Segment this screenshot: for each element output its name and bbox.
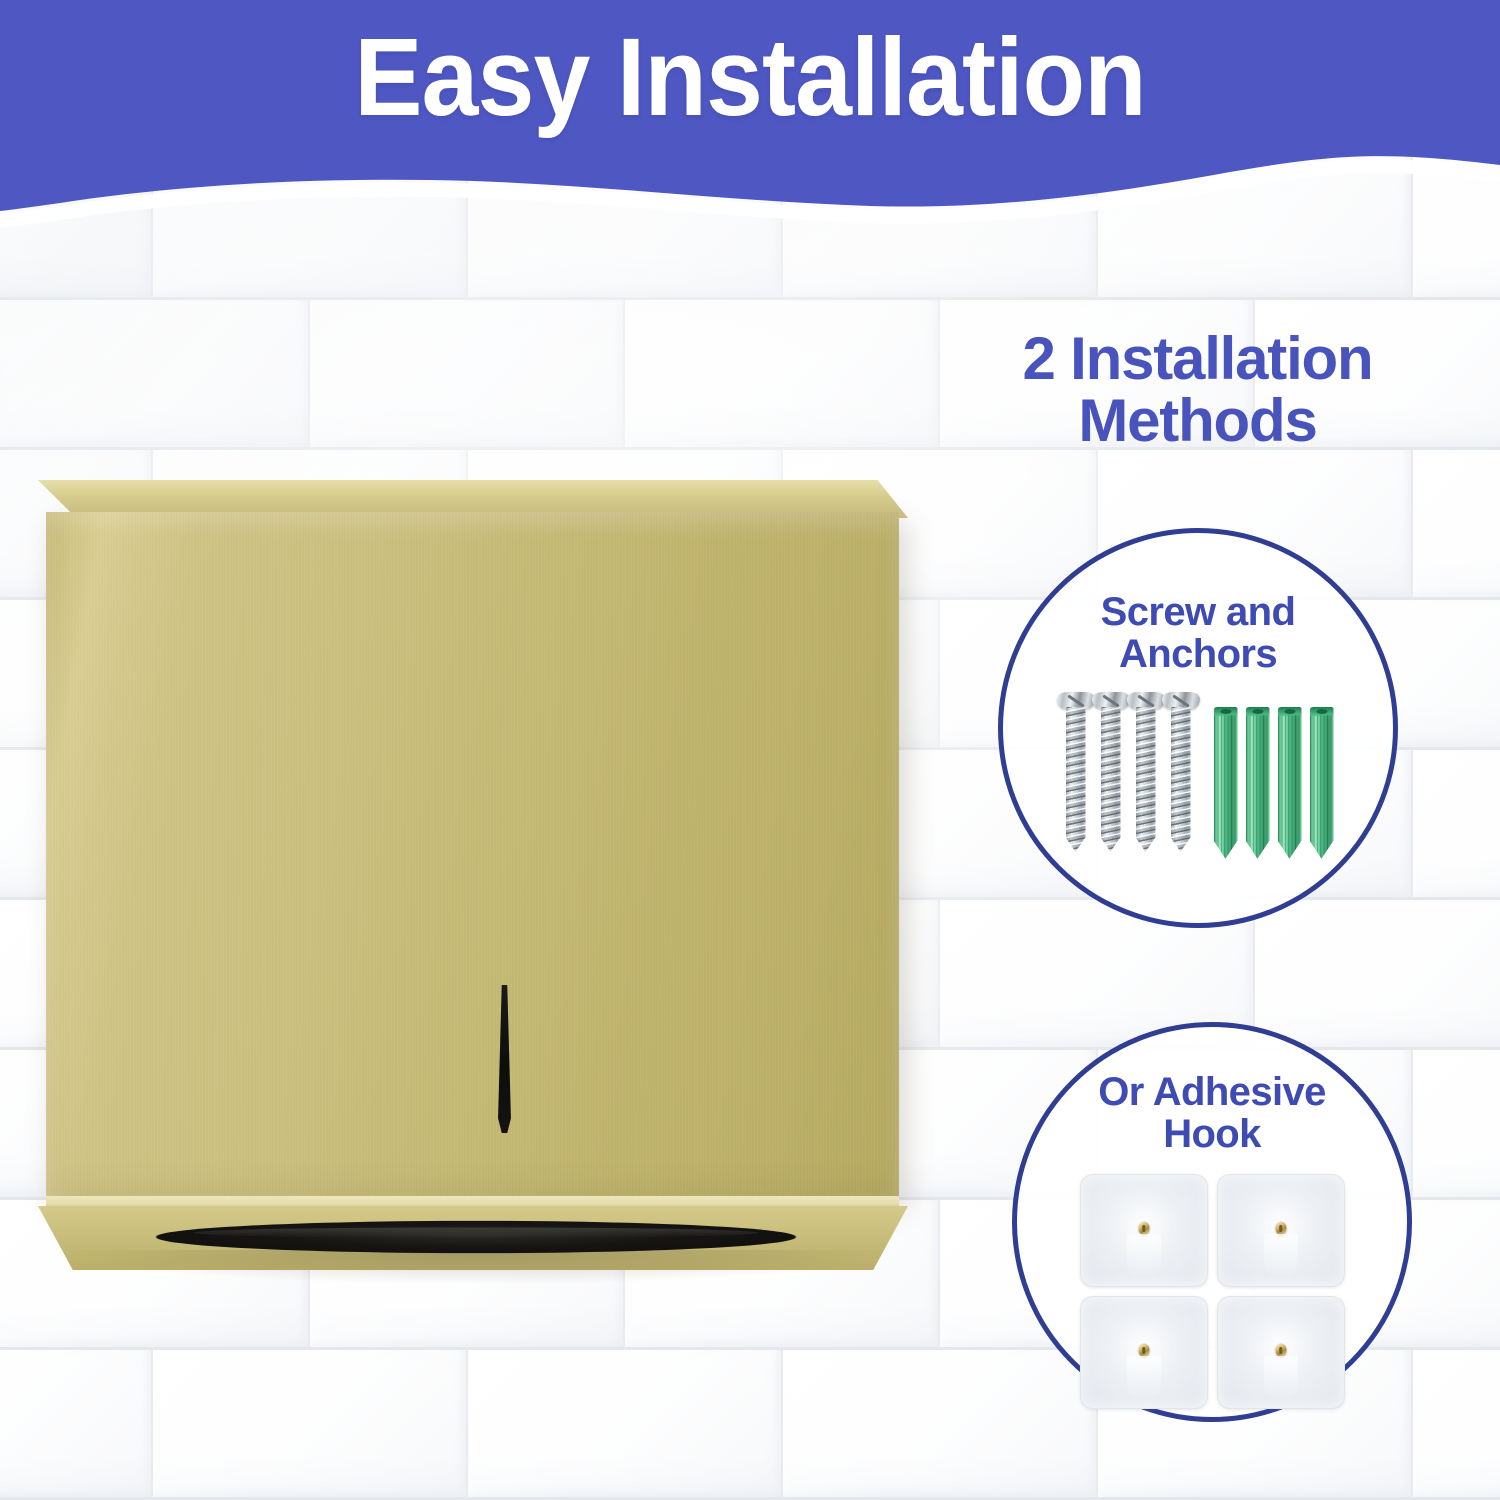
badge-adhesive-label: Or Adhesive Hook	[1047, 1071, 1377, 1156]
badge-screw-label-line2: Anchors	[1119, 632, 1277, 676]
adhesive-pad-icon	[1217, 1296, 1345, 1409]
installation-methods-heading: 2 Installation Methods	[945, 328, 1450, 453]
screw-icon	[1168, 692, 1194, 852]
badge-adhesive-hook[interactable]: Or Adhesive Hook	[1012, 1022, 1412, 1422]
wall-anchor-icon	[1214, 707, 1238, 859]
pad-stud-icon	[1275, 1222, 1286, 1235]
pad-stud-icon	[1138, 1344, 1149, 1357]
adhesive-pad-icon	[1080, 1296, 1208, 1409]
anchor-group	[1214, 707, 1334, 859]
page-title: Easy Installation	[53, 14, 1448, 142]
dispenser-front-panel	[46, 512, 899, 1200]
dispenser-shadow	[68, 1250, 888, 1284]
screw-icon	[1063, 692, 1089, 852]
adhesive-pad-group	[1080, 1174, 1345, 1409]
badge-adhesive-label-line1: Or Adhesive	[1098, 1070, 1326, 1114]
badge-screw-label: Screw and Anchors	[1033, 591, 1363, 676]
badge-adhesive-label-line2: Hook	[1163, 1112, 1261, 1156]
badge-screw-and-anchors[interactable]: Screw and Anchors	[998, 528, 1398, 928]
pad-stud-icon	[1275, 1344, 1286, 1357]
methods-heading-line1: 2 Installation	[1023, 325, 1373, 392]
screw-group	[1063, 692, 1194, 852]
wall-anchor-icon	[1310, 707, 1334, 859]
wall-anchor-icon	[1278, 707, 1302, 859]
pad-stud-icon	[1138, 1222, 1149, 1235]
methods-heading-line2: Methods	[945, 390, 1450, 452]
wall-anchor-icon	[1246, 707, 1270, 859]
screw-icon	[1098, 692, 1124, 852]
adhesive-pad-icon	[1080, 1174, 1208, 1287]
adhesive-pad-icon	[1217, 1174, 1345, 1287]
paper-towel-dispenser	[38, 480, 908, 1270]
badge-screw-label-line1: Screw and	[1101, 590, 1296, 634]
hardware-illustration	[1063, 692, 1334, 859]
dispenser-dispense-slot	[156, 1221, 796, 1253]
screw-icon	[1133, 692, 1159, 852]
infographic-canvas: Easy Installation 2 Installation Methods…	[0, 0, 1500, 1500]
